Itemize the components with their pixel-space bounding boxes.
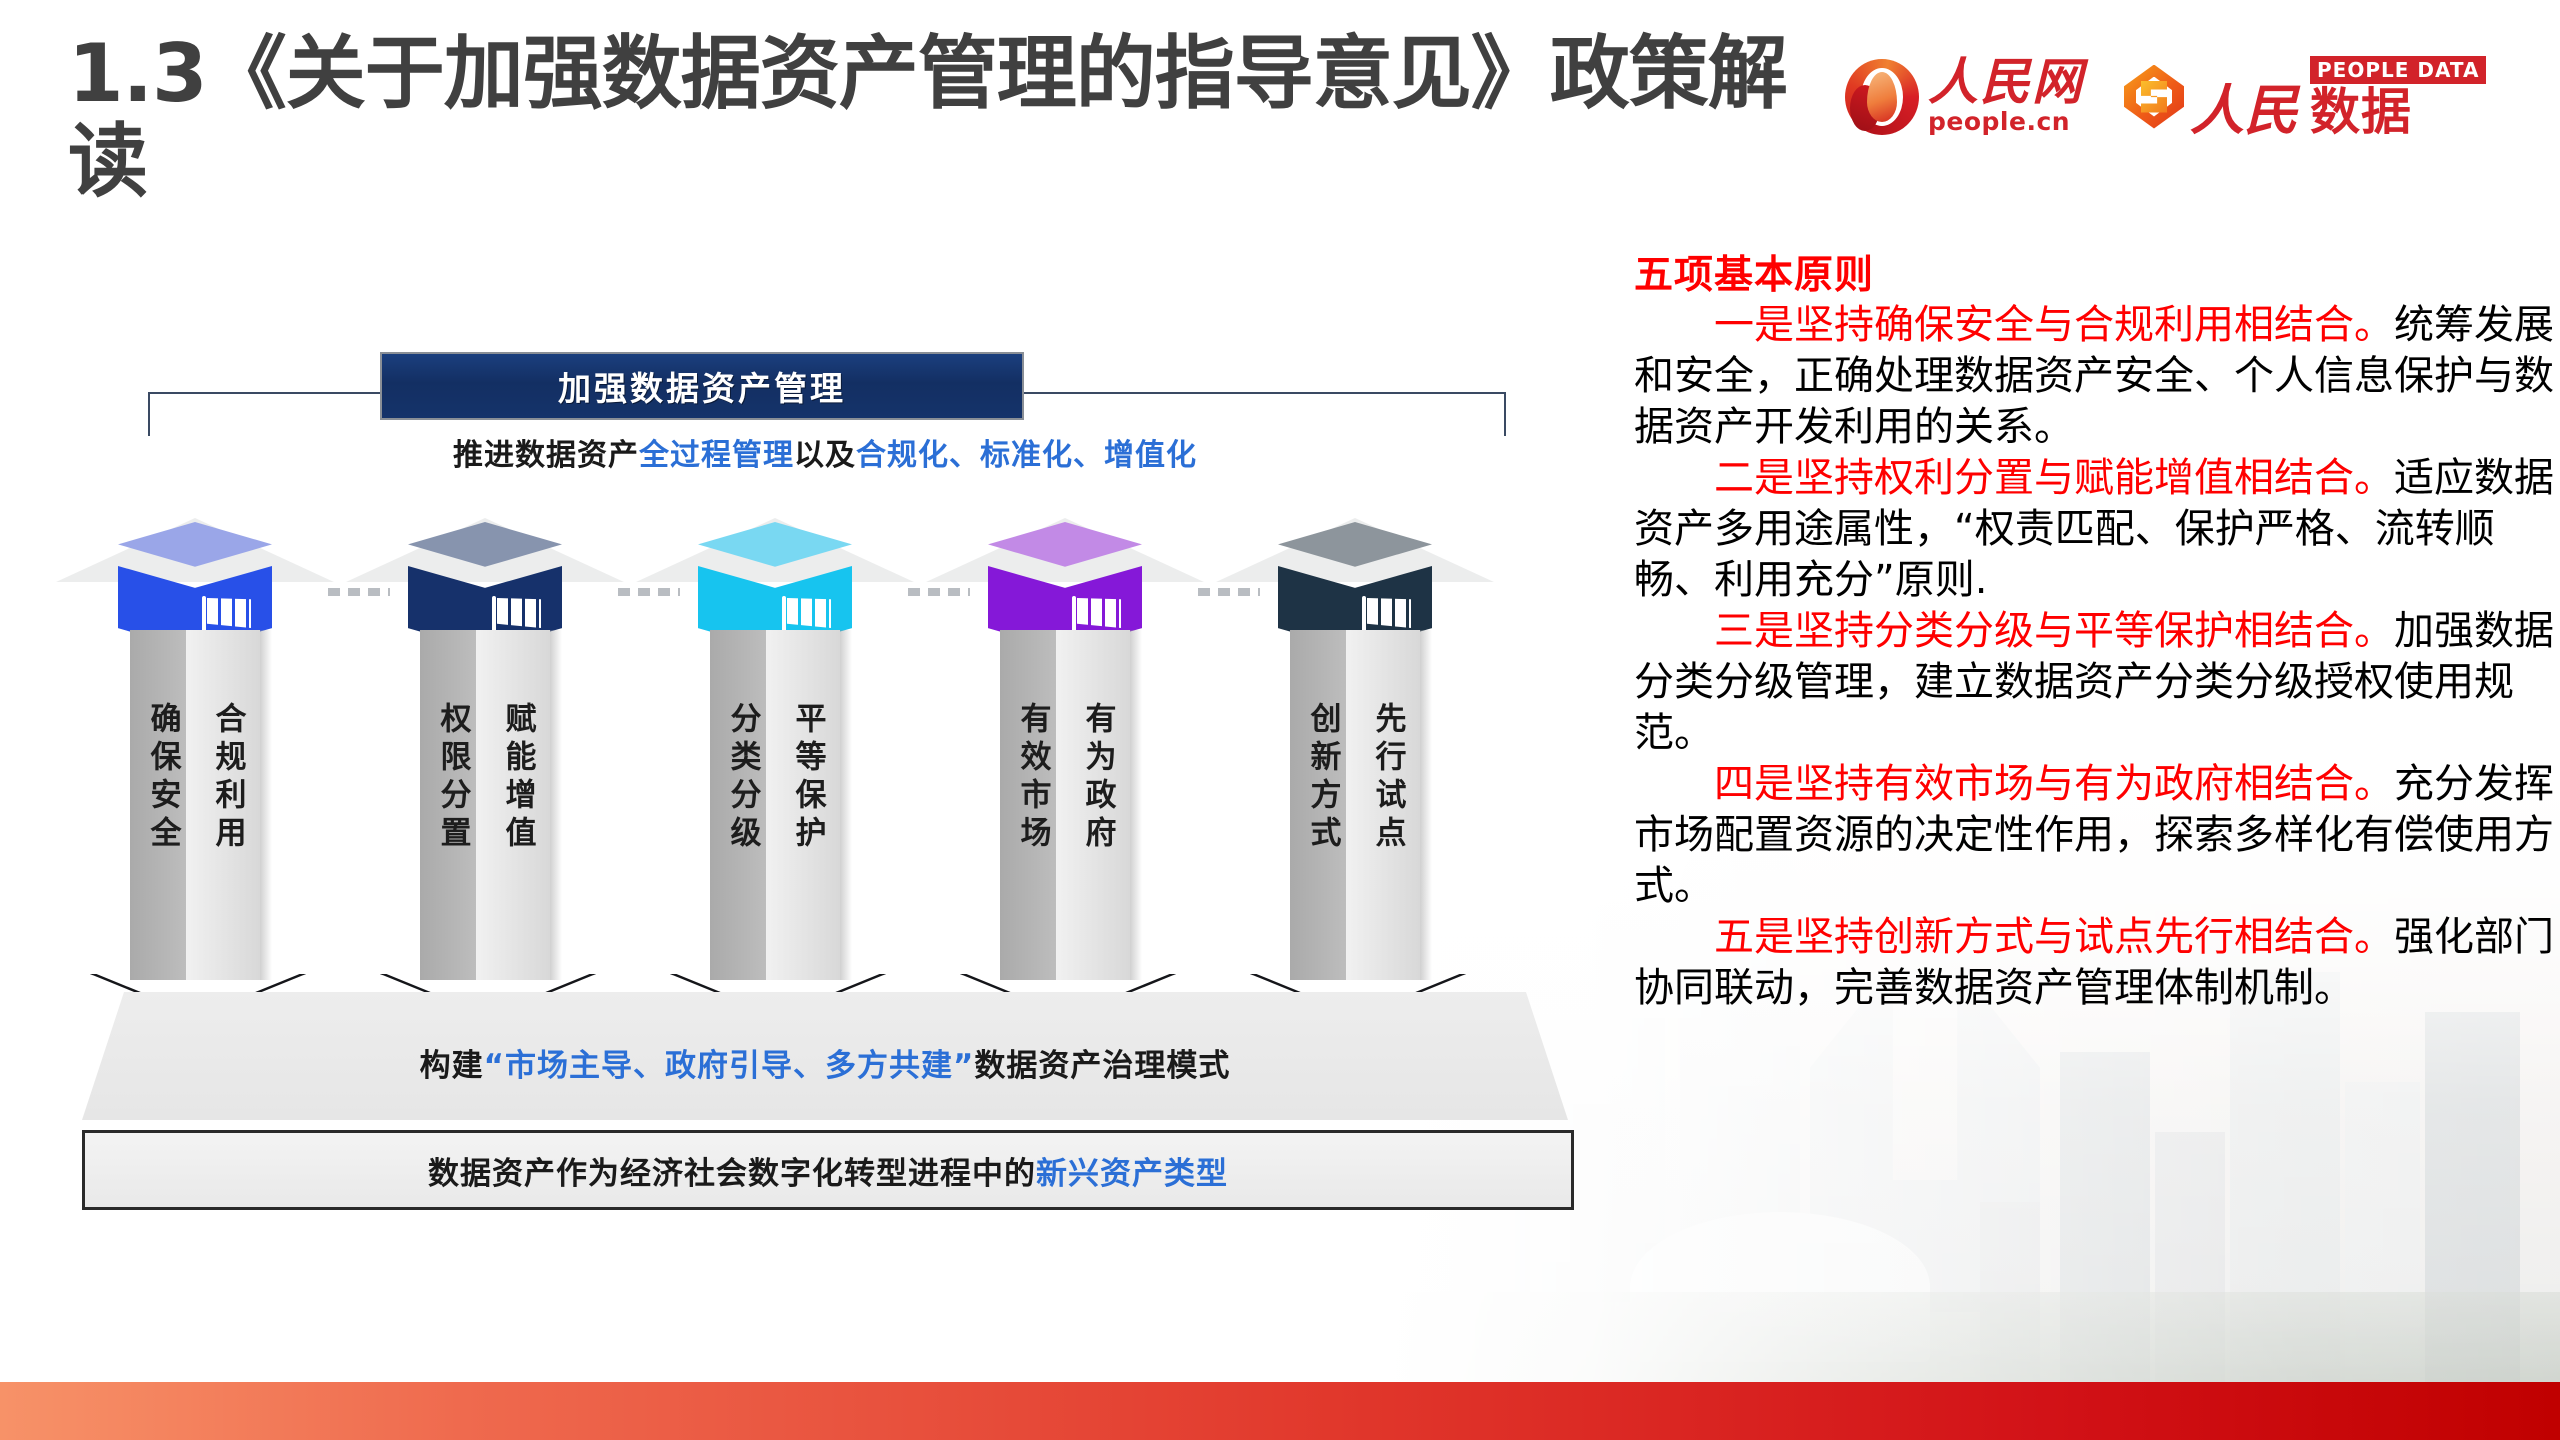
- logo-group: 人民网 people.cn 人民 PEOPLE DATA 数据: [1845, 56, 2486, 137]
- people-data-badge: PEOPLE DATA: [2310, 56, 2486, 84]
- pillar-4-label-right: 有为政府: [1078, 702, 1118, 854]
- base-text-post: 数据资产治理模式: [974, 1048, 1230, 1084]
- pillar-5-label-right: 先行试点: [1368, 702, 1408, 854]
- pillar-2-label-right: 赋能增值: [498, 702, 538, 854]
- base-text-pre: 构建: [420, 1048, 484, 1084]
- subtitle-highlight-1: 全过程管理: [639, 438, 794, 473]
- pillar-1-label-left: 确保安全: [143, 702, 183, 854]
- pillar-4-label-left: 有效市场: [1013, 702, 1053, 854]
- principle-5-red: 五是坚持创新方式与试点先行相结合。: [1714, 914, 2394, 960]
- pillar-5-label-left: 创新方式: [1303, 702, 1343, 854]
- pillar-connector-dots-3: [908, 588, 970, 596]
- principle-1-red: 一是坚持确保安全与合规利用相结合。: [1714, 302, 2394, 348]
- pillar-labels-2: 权限分置 赋能增值: [420, 702, 550, 854]
- principles-panel: 五项基本原则 一是坚持确保安全与合规利用相结合。统筹发展和安全，正确处理数据资产…: [1634, 252, 2554, 1014]
- pillar-connector-dots-1: [328, 588, 390, 596]
- principle-2-red: 二是坚持权利分置与赋能增值相结合。: [1714, 455, 2394, 501]
- footer-accent-bar: [0, 1382, 2560, 1440]
- pillar-4[interactable]: 有效市场 有为政府: [970, 512, 1160, 1042]
- base-bar-pre: 数据资产作为经济社会数字化转型进程中的: [428, 1156, 1036, 1192]
- diagram-subtitle: 推进数据资产全过程管理以及合规化、标准化、增值化: [148, 430, 1502, 474]
- principle-4-red: 四是坚持有效市场与有为政府相结合。: [1714, 761, 2394, 807]
- pillar-labels-5: 创新方式 先行试点: [1290, 702, 1420, 854]
- people-data-ren-min: 人民: [2190, 83, 2298, 137]
- principle-item-4: 四是坚持有效市场与有为政府相结合。充分发挥市场配置资源的决定性作用，探索多样化有…: [1634, 759, 2554, 912]
- base-footer-bar: 数据资产作为经济社会数字化转型进程中的新兴资产类型: [82, 1130, 1574, 1210]
- principle-item-3: 三是坚持分类分级与平等保护相结合。加强数据分类分级管理，建立数据资产分类分级授权…: [1634, 606, 2554, 759]
- principle-item-2: 二是坚持权利分置与赋能增值相结合。适应数据资产多用途属性，“权责匹配、保护严格、…: [1634, 453, 2554, 606]
- base-bar-highlight: 新兴资产类型: [1036, 1156, 1228, 1192]
- pillar-row: 确保安全 合规利用 权限分置 赋能增值: [60, 512, 1590, 1042]
- people-daily-teardrop-icon: [1845, 59, 1919, 135]
- people-data-diamond-icon: [2118, 61, 2190, 133]
- diagram-header-box: 加强数据资产管理: [380, 352, 1024, 420]
- subtitle-pre: 推进数据资产: [453, 438, 639, 473]
- pillar-3-label-left: 分类分级: [723, 702, 763, 854]
- people-data-logo: 人民 PEOPLE DATA 数据: [2118, 56, 2486, 137]
- base-platform-text: 构建“市场主导、政府引导、多方共建”数据资产治理模式: [82, 1040, 1568, 1085]
- pillar-5[interactable]: 创新方式 先行试点: [1260, 512, 1450, 1042]
- pillar-2[interactable]: 权限分置 赋能增值: [390, 512, 580, 1042]
- pillar-labels-1: 确保安全 合规利用: [130, 702, 260, 854]
- pillar-labels-4: 有效市场 有为政府: [1000, 702, 1130, 854]
- panel-heading: 五项基本原则: [1634, 252, 2554, 300]
- pillar-1[interactable]: 确保安全 合规利用: [100, 512, 290, 1042]
- principle-3-red: 三是坚持分类分级与平等保护相结合。: [1714, 608, 2394, 654]
- principle-item-5: 五是坚持创新方式与试点先行相结合。强化部门协同联动，完善数据资产管理体制机制。: [1634, 912, 2554, 1014]
- people-cn-domain: people.cn: [1928, 107, 2084, 136]
- pillar-labels-3: 分类分级 平等保护: [710, 702, 840, 854]
- people-data-chinese-name: 数据: [2310, 87, 2486, 137]
- pillar-2-label-left: 权限分置: [433, 702, 473, 854]
- people-cn-chinese-name: 人民网: [1928, 57, 2084, 107]
- principle-item-1: 一是坚持确保安全与合规利用相结合。统筹发展和安全，正确处理数据资产安全、个人信息…: [1634, 300, 2554, 453]
- data-asset-management-diagram: 加强数据资产管理 推进数据资产全过程管理以及合规化、标准化、增值化 确保安全 合…: [60, 352, 1590, 1232]
- pillar-3-label-right: 平等保护: [788, 702, 828, 854]
- diagram-header-label: 加强数据资产管理: [558, 362, 846, 410]
- pillar-1-label-right: 合规利用: [208, 702, 248, 854]
- people-cn-logo: 人民网 people.cn: [1845, 57, 2084, 136]
- pillar-connector-dots-4: [1198, 588, 1260, 596]
- subtitle-highlight-2: 合规化、标准化、增值化: [856, 438, 1197, 473]
- pillar-3[interactable]: 分类分级 平等保护: [680, 512, 870, 1042]
- pillar-connector-dots-2: [618, 588, 680, 596]
- base-text-quote: “市场主导、政府引导、多方共建”: [484, 1048, 975, 1084]
- page-title: 1.3《关于加强数据资产管理的指导意见》政策解读: [68, 30, 1828, 206]
- subtitle-mid: 以及: [794, 438, 856, 473]
